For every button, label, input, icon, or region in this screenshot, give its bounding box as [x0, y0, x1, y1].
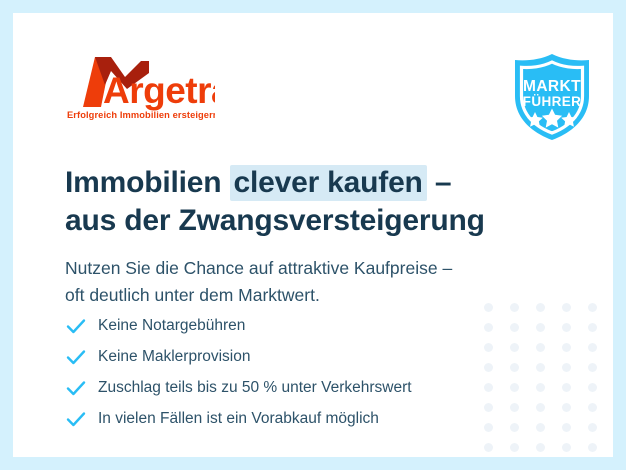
dot	[484, 443, 493, 452]
dot	[588, 363, 597, 372]
list-item: In vielen Fällen ist ein Vorabkauf mögli…	[65, 403, 535, 434]
dot	[562, 323, 571, 332]
dot	[562, 343, 571, 352]
benefits-list: Keine Notargebühren Keine Maklerprovisio…	[65, 310, 535, 434]
logo-wordmark: Argetra	[103, 70, 215, 111]
dot	[536, 323, 545, 332]
check-icon	[65, 315, 87, 337]
check-icon	[65, 377, 87, 399]
dot	[588, 383, 597, 392]
subheading-line1: Nutzen Sie die Chance auf attraktive Kau…	[65, 258, 452, 278]
dot	[588, 303, 597, 312]
list-item: Keine Maklerprovision	[65, 341, 535, 372]
badge-line1: MARKT	[523, 78, 581, 95]
headline-line1-after: –	[427, 166, 452, 199]
headline-highlight: clever kaufen	[230, 165, 427, 201]
dot	[588, 403, 597, 412]
dot	[562, 403, 571, 412]
dot	[536, 443, 545, 452]
dot	[536, 383, 545, 392]
benefit-label: Zuschlag teils bis zu 50 % unter Verkehr…	[98, 380, 412, 396]
dot	[536, 423, 545, 432]
dot	[588, 343, 597, 352]
ad-banner: Argetra Erfolgreich Immobilien ersteiger…	[0, 0, 626, 470]
ad-card: Argetra Erfolgreich Immobilien ersteiger…	[13, 13, 613, 457]
logo-tagline: Erfolgreich Immobilien ersteigern	[67, 110, 215, 120]
dot	[536, 343, 545, 352]
dot	[588, 323, 597, 332]
list-item: Zuschlag teils bis zu 50 % unter Verkehr…	[65, 372, 535, 403]
dot	[510, 443, 519, 452]
check-icon	[65, 408, 87, 430]
dot	[562, 363, 571, 372]
market-leader-badge: MARKT FÜHRER	[506, 51, 598, 143]
headline-line1-before: Immobilien	[65, 166, 230, 199]
argetra-logo: Argetra Erfolgreich Immobilien ersteiger…	[65, 55, 215, 121]
badge-line2: FÜHRER	[523, 94, 582, 109]
headline-line2: aus der Zwangsversteigerung	[65, 204, 485, 237]
headline: Immobilien clever kaufen –aus der Zwangs…	[65, 164, 575, 240]
dot	[562, 383, 571, 392]
dot	[536, 403, 545, 412]
benefit-label: In vielen Fällen ist ein Vorabkauf mögli…	[98, 411, 379, 427]
benefit-label: Keine Notargebühren	[98, 318, 245, 334]
check-icon	[65, 346, 87, 368]
dot	[536, 363, 545, 372]
dot	[588, 443, 597, 452]
dot	[562, 423, 571, 432]
subheading-line2: oft deutlich unter dem Marktwert.	[65, 285, 320, 305]
list-item: Keine Notargebühren	[65, 310, 535, 341]
dot	[562, 443, 571, 452]
subheading: Nutzen Sie die Chance auf attraktive Kau…	[65, 255, 565, 309]
benefit-label: Keine Maklerprovision	[98, 349, 251, 365]
dot	[588, 423, 597, 432]
